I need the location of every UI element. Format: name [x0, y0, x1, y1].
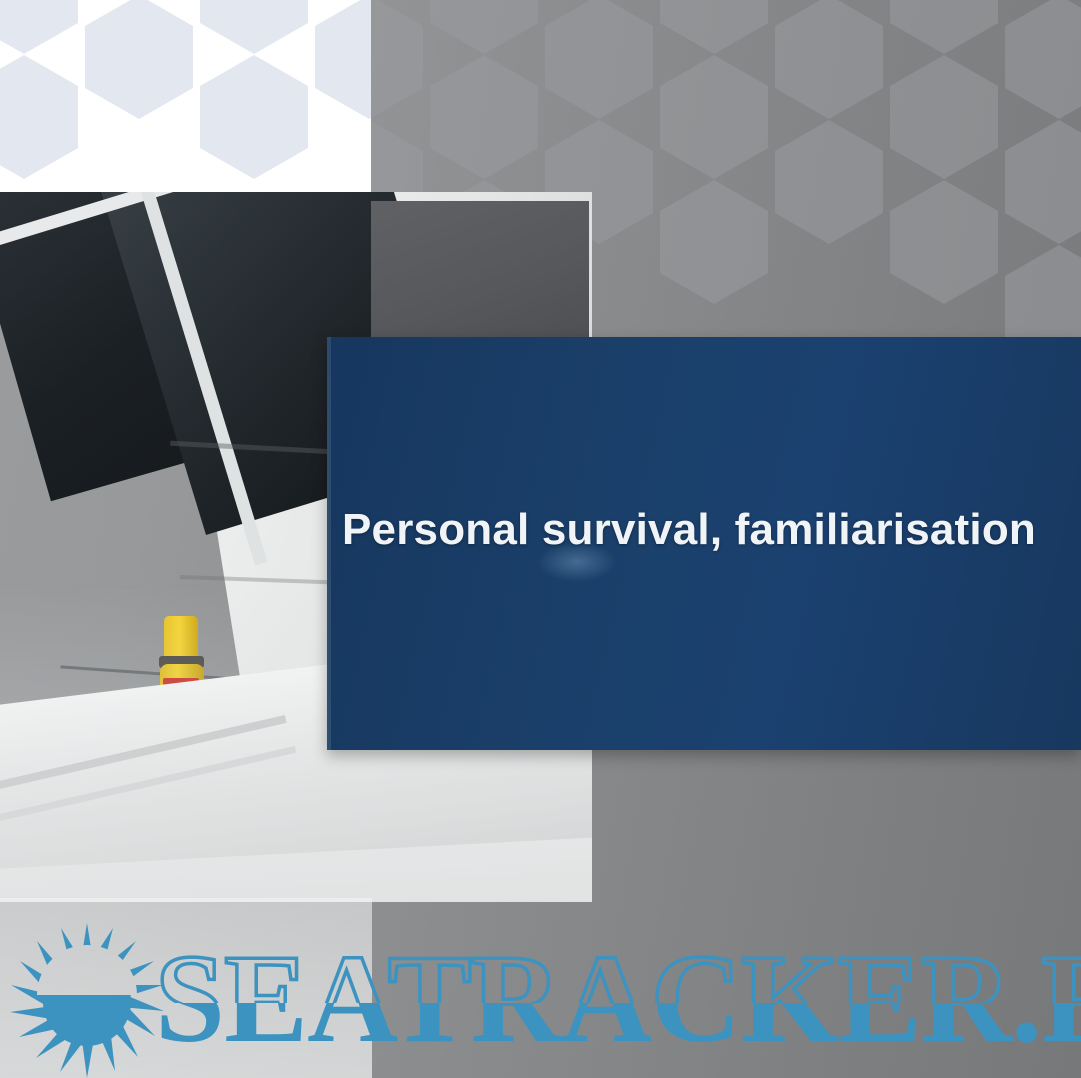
- banner-left-edge: [327, 337, 331, 750]
- white-header-card: [0, 0, 371, 196]
- slide-canvas: Personal survival, familiarisation: [0, 0, 1081, 1078]
- title-banner: Personal survival, familiarisation: [327, 337, 1081, 750]
- bottom-light-wash: [0, 898, 372, 1078]
- dark-accent-panel: [371, 201, 589, 338]
- white-card-hexagons: [0, 0, 371, 196]
- slide-title: Personal survival, familiarisation: [342, 505, 1072, 555]
